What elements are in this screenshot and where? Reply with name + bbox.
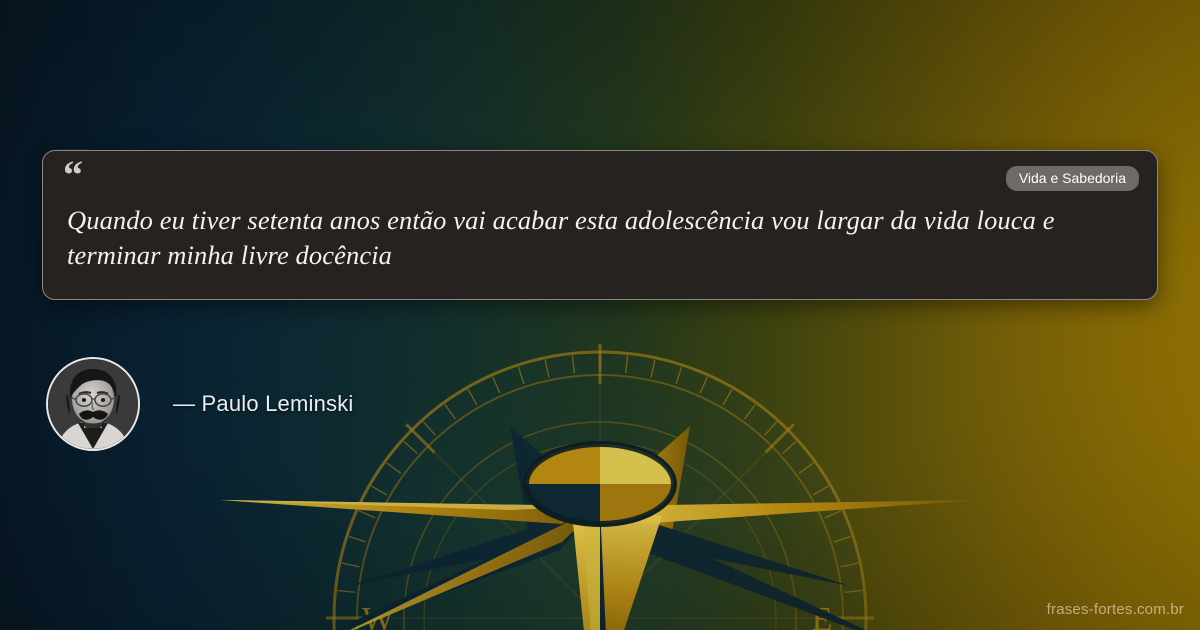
quote-text: Quando eu tiver setenta anos então vai a…	[67, 203, 1123, 273]
author-name: — Paulo Leminski	[173, 391, 354, 417]
category-badge[interactable]: Vida e Sabedoria	[1006, 166, 1139, 191]
site-watermark: frases-fortes.com.br	[1047, 601, 1184, 618]
quote-mark-icon: “	[63, 155, 82, 195]
avatar	[46, 357, 140, 451]
author-block: — Paulo Leminski	[46, 357, 354, 451]
quote-card-image: S E W	[0, 0, 1200, 630]
quote-card: “ Quando eu tiver setenta anos então vai…	[42, 150, 1158, 300]
background-vignette	[0, 0, 1200, 630]
